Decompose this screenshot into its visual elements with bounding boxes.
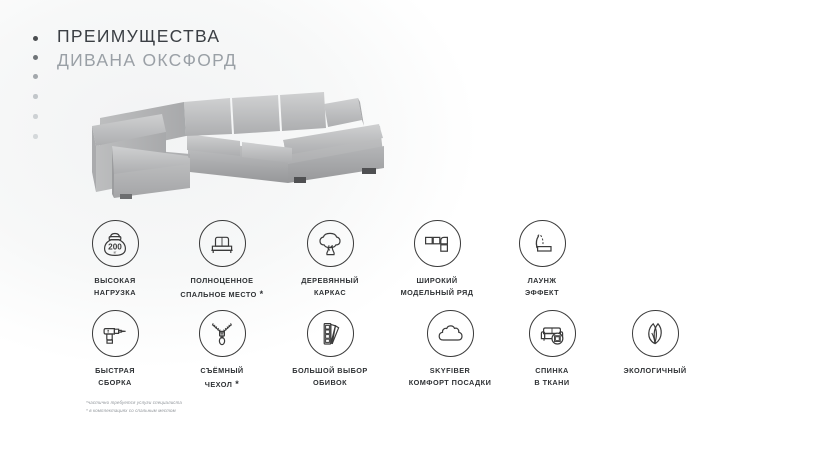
footnotes: *частично требуется услуги специалиста* …	[86, 399, 182, 414]
feature-item-modular-blocks: ШИРОКИЙ МОДЕЛЬНЫЙ РЯД	[381, 220, 493, 299]
feature-item-bed: ПОЛНОЦЕННОЕ СПАЛЬНОЕ МЕСТО *	[166, 220, 278, 301]
sofa-fabric-zoom-icon	[529, 310, 576, 357]
zipper-icon	[199, 310, 246, 357]
title-line-primary: ПРЕИМУЩЕСТВА	[57, 28, 237, 46]
tree-icon	[307, 220, 354, 267]
feature-item-drill: БЫСТРАЯ СБОРКА	[59, 310, 171, 389]
feature-label: ШИРОКИЙ МОДЕЛЬНЫЙ РЯД	[381, 275, 493, 299]
feature-label: ВЫСОКАЯ НАГРУЗКА	[59, 275, 171, 299]
feature-label: ЛАУНЖ ЭФФЕКТ	[486, 275, 598, 299]
title-line-secondary: ДИВАНА ОКСФОРД	[57, 52, 237, 70]
decorative-dot-3	[33, 74, 38, 79]
recliner-backrest-icon	[519, 220, 566, 267]
cloud-icon	[427, 310, 474, 357]
decorative-dot-5	[33, 114, 38, 119]
feature-label: БОЛЬШОЙ ВЫБОР ОБИВОК	[274, 365, 386, 389]
feature-item-weight-kettlebell: 200 кг ВЫСОКАЯ НАГРУЗКА	[59, 220, 171, 299]
footnote-marker: *	[257, 289, 264, 299]
feature-item-recliner-backrest: ЛАУНЖ ЭФФЕКТ	[486, 220, 598, 299]
footnote-line1: *частично требуется услуги специалиста	[86, 399, 182, 407]
feature-item-zipper: СЪЁМНЫЙ ЧЕХОЛ *	[166, 310, 278, 391]
footnote-line2: * в комплектациях со спальным местом	[86, 407, 182, 415]
drill-icon	[92, 310, 139, 357]
feature-label: БЫСТРАЯ СБОРКА	[59, 365, 171, 389]
eco-leaves-icon	[632, 310, 679, 357]
sofa-hero-image	[62, 84, 412, 200]
feature-item-tree: ДЕРЕВЯННЫЙ КАРКАС	[274, 220, 386, 299]
feature-label: СПИНКА В ТКАНИ	[496, 365, 608, 389]
decorative-dot-1	[33, 36, 38, 41]
fabric-swatch-fan-icon	[307, 310, 354, 357]
modular-blocks-icon	[414, 220, 461, 267]
feature-label: ДЕРЕВЯННЫЙ КАРКАС	[274, 275, 386, 299]
decorative-dot-column	[33, 36, 47, 196]
feature-item-eco-leaves: ЭКОЛОГИЧНЫЙ	[599, 310, 711, 377]
feature-item-sofa-fabric-zoom: СПИНКА В ТКАНИ	[496, 310, 608, 389]
feature-label: ПОЛНОЦЕННОЕ СПАЛЬНОЕ МЕСТО *	[166, 275, 278, 301]
decorative-dot-4	[33, 94, 38, 99]
feature-item-fabric-swatch-fan: БОЛЬШОЙ ВЫБОР ОБИВОК	[274, 310, 386, 389]
feature-label: СЪЁМНЫЙ ЧЕХОЛ *	[166, 365, 278, 391]
promo-banner: ПРЕИМУЩЕСТВА ДИВАНА ОКСФОРД	[0, 0, 840, 450]
feature-label: ЭКОЛОГИЧНЫЙ	[599, 365, 711, 377]
feature-label: SKYFIBER КОМФОРТ ПОСАДКИ	[394, 365, 506, 389]
weight-kettlebell-icon: 200 кг	[92, 220, 139, 267]
bed-icon	[199, 220, 246, 267]
footnote-marker: *	[232, 379, 239, 389]
decorative-dot-2	[33, 55, 38, 60]
page-title: ПРЕИМУЩЕСТВА ДИВАНА ОКСФОРД	[57, 28, 237, 69]
feature-item-cloud: SKYFIBER КОМФОРТ ПОСАДКИ	[394, 310, 506, 389]
decorative-dot-6	[33, 134, 38, 139]
